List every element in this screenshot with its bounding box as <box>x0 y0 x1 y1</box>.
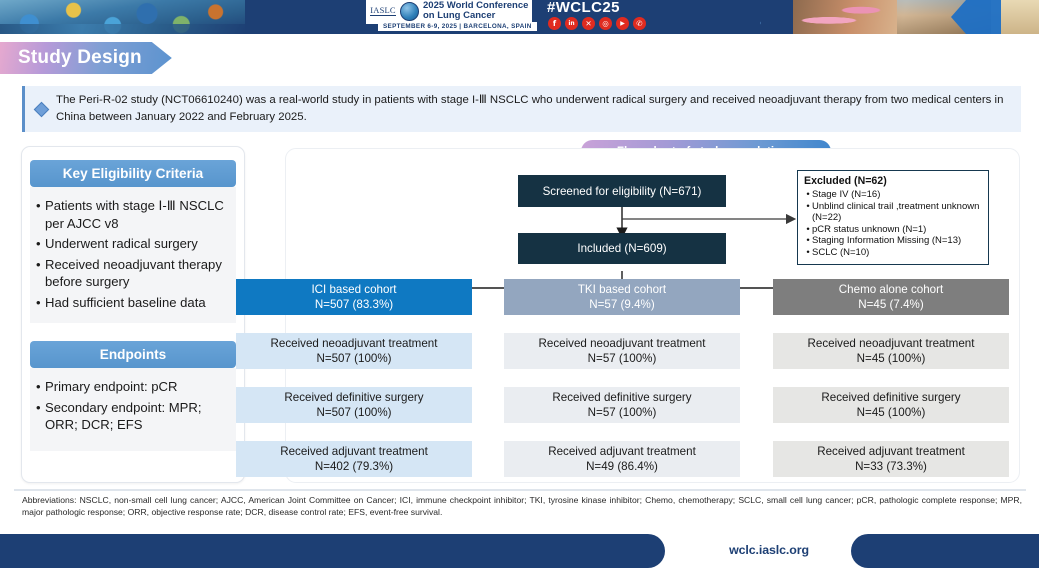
cohort-tki-name: TKI based cohort <box>578 282 666 297</box>
eligibility-list: • Patients with stage Ⅰ-Ⅲ NSCLC per AJCC… <box>30 187 236 323</box>
node-chemo-adjuvant: Received adjuvant treatment N=33 (73.3%) <box>773 441 1009 477</box>
conference-title: 2025 World Conference on Lung Cancer <box>423 1 528 21</box>
facebook-icon[interactable]: f <box>548 17 561 30</box>
node-tki-neoadjuvant: Received neoadjuvant treatment N=57 (100… <box>504 333 740 369</box>
excluded-item-1: Unblind clinical trail ,treatment unknow… <box>812 201 983 224</box>
bullet-dot-icon: • <box>36 294 45 312</box>
node-ici-surgery-count: N=507 (100%) <box>316 405 391 420</box>
bullet-dot-icon: • <box>804 201 812 224</box>
node-excluded-box: Excluded (N=62) • Stage IV (N=16) • Unbl… <box>797 170 989 265</box>
globe-icon <box>400 2 419 21</box>
endpoints-list: • Primary endpoint: pCR • Secondary endp… <box>30 368 236 451</box>
list-item: • Underwent radical surgery <box>36 235 230 253</box>
eligibility-item-0: Patients with stage Ⅰ-Ⅲ NSCLC per AJCC v… <box>45 197 230 232</box>
cohort-tki-count: N=57 (9.4%) <box>589 297 654 312</box>
list-item: • pCR status unknown (N=1) <box>804 224 983 236</box>
node-tki-neoadjuvant-count: N=57 (100%) <box>588 351 657 366</box>
wechat-icon[interactable]: ✆ <box>633 17 646 30</box>
bullet-dot-icon: • <box>36 378 45 396</box>
eligibility-heading: Key Eligibility Criteria <box>30 160 236 187</box>
study-summary-callout: The Peri-R-02 study (NCT06610240) was a … <box>22 86 1021 132</box>
diamond-bullet-icon <box>34 101 50 117</box>
node-tki-adjuvant-label: Received adjuvant treatment <box>548 444 696 459</box>
bullet-dot-icon: • <box>804 189 812 201</box>
x-twitter-icon[interactable]: ✕ <box>582 17 595 30</box>
list-item: • Patients with stage Ⅰ-Ⅲ NSCLC per AJCC… <box>36 197 230 232</box>
section-tag-label: Study Design <box>18 47 142 69</box>
study-summary-text: The Peri-R-02 study (NCT06610240) was a … <box>56 92 1021 127</box>
node-ici-neoadjuvant-label: Received neoadjuvant treatment <box>271 336 438 351</box>
bullet-dot-icon: • <box>36 235 45 253</box>
node-cohort-ici-header: ICI based cohort N=507 (83.3%) <box>236 279 472 315</box>
barcelona-mosaic-photo <box>0 0 245 34</box>
node-tki-surgery-label: Received definitive surgery <box>552 390 691 405</box>
node-chemo-neoadjuvant-count: N=45 (100%) <box>857 351 926 366</box>
node-ici-adjuvant: Received adjuvant treatment N=402 (79.3%… <box>236 441 472 477</box>
list-item: • Stage IV (N=16) <box>804 189 983 201</box>
excluded-item-2: pCR status unknown (N=1) <box>812 224 983 236</box>
footnote-divider <box>14 489 1026 491</box>
youtube-icon[interactable]: ▶ <box>616 17 629 30</box>
cohort-ici-name: ICI based cohort <box>311 282 396 297</box>
logo-divider-rule <box>370 15 396 16</box>
node-cohort-tki-header: TKI based cohort N=57 (9.4%) <box>504 279 740 315</box>
node-ici-surgery: Received definitive surgery N=507 (100%) <box>236 387 472 423</box>
list-item: • Received neoadjuvant therapy before su… <box>36 256 230 291</box>
instagram-icon[interactable]: ◎ <box>599 17 612 30</box>
eligibility-item-1: Underwent radical surgery <box>45 235 230 253</box>
node-tki-adjuvant-count: N=49 (86.4%) <box>586 459 658 474</box>
node-chemo-neoadjuvant: Received neoadjuvant treatment N=45 (100… <box>773 333 1009 369</box>
conference-title-line2: on Lung Cancer <box>423 11 528 21</box>
endpoints-item-1: Secondary endpoint: MPR; ORR; DCR; EFS <box>45 399 230 434</box>
endpoints-heading: Endpoints <box>30 341 236 368</box>
section-tag-study-design: Study Design <box>0 42 172 74</box>
section-tag-wrapper: Study Design <box>0 42 172 74</box>
bullet-dot-icon: • <box>804 235 812 247</box>
node-ici-surgery-label: Received definitive surgery <box>284 390 423 405</box>
endpoints-heading-label: Endpoints <box>100 347 166 362</box>
bullet-dot-icon: • <box>36 197 45 232</box>
node-ici-neoadjuvant-count: N=507 (100%) <box>316 351 391 366</box>
list-item: • SCLC (N=10) <box>804 247 983 259</box>
node-chemo-adjuvant-label: Received adjuvant treatment <box>817 444 965 459</box>
conference-header-banner: IASLC 2025 World Conference on Lung Canc… <box>0 0 1039 34</box>
list-item: • Secondary endpoint: MPR; ORR; DCR; EFS <box>36 399 230 434</box>
node-tki-neoadjuvant-label: Received neoadjuvant treatment <box>539 336 706 351</box>
linkedin-icon[interactable]: in <box>565 17 578 30</box>
eligibility-item-2: Received neoadjuvant therapy before surg… <box>45 256 230 291</box>
footer-left-bar <box>0 534 665 568</box>
conference-hashtag: #WCLC25 <box>547 0 620 16</box>
cohort-chemo-name: Chemo alone cohort <box>839 282 943 297</box>
excluded-title: Excluded (N=62) <box>804 175 983 188</box>
node-chemo-surgery-count: N=45 (100%) <box>857 405 926 420</box>
node-included: Included (N=609) <box>518 233 726 264</box>
node-ici-neoadjuvant: Received neoadjuvant treatment N=507 (10… <box>236 333 472 369</box>
footer-right-bar <box>851 534 1039 568</box>
eligibility-heading-label: Key Eligibility Criteria <box>63 166 204 181</box>
node-cohort-chemo-header: Chemo alone cohort N=45 (7.4%) <box>773 279 1009 315</box>
node-tki-surgery-count: N=57 (100%) <box>588 405 657 420</box>
cohort-ici-count: N=507 (83.3%) <box>315 297 393 312</box>
abbreviations-footnote: Abbreviations: NSCLC, non-small cell lun… <box>22 494 1022 519</box>
bullet-dot-icon: • <box>804 224 812 236</box>
iaslc-logo-text: IASLC <box>370 5 396 15</box>
bullet-dot-icon: • <box>36 256 45 291</box>
node-chemo-surgery-label: Received definitive surgery <box>821 390 960 405</box>
list-item: • Had sufficient baseline data <box>36 294 230 312</box>
node-screened-for-eligibility: Screened for eligibility (N=671) <box>518 175 726 207</box>
bullet-dot-icon: • <box>804 247 812 259</box>
page-footer: wclc.iaslc.org <box>0 531 1039 571</box>
list-item: • Staging Information Missing (N=13) <box>804 235 983 247</box>
conference-date-location: SEPTEMBER 6-9, 2025 | BARCELONA, SPAIN <box>378 22 537 31</box>
node-tki-surgery: Received definitive surgery N=57 (100%) <box>504 387 740 423</box>
list-item: • Unblind clinical trail ,treatment unkn… <box>804 201 983 224</box>
node-ici-adjuvant-label: Received adjuvant treatment <box>280 444 428 459</box>
cohort-chemo-count: N=45 (7.4%) <box>858 297 923 312</box>
footer-website-url: wclc.iaslc.org <box>694 543 844 557</box>
eligibility-item-3: Had sufficient baseline data <box>45 294 230 312</box>
social-media-icons: f in ✕ ◎ ▶ ✆ <box>548 17 646 30</box>
iaslc-wordmark: IASLC <box>370 6 396 17</box>
node-chemo-adjuvant-count: N=33 (73.3%) <box>855 459 927 474</box>
study-design-left-card: Key Eligibility Criteria • Patients with… <box>21 146 245 483</box>
node-chemo-surgery: Received definitive surgery N=45 (100%) <box>773 387 1009 423</box>
excluded-item-4: SCLC (N=10) <box>812 247 983 259</box>
excluded-item-0: Stage IV (N=16) <box>812 189 983 201</box>
list-item: • Primary endpoint: pCR <box>36 378 230 396</box>
node-chemo-neoadjuvant-label: Received neoadjuvant treatment <box>808 336 975 351</box>
excluded-item-3: Staging Information Missing (N=13) <box>812 235 983 247</box>
node-tki-adjuvant: Received adjuvant treatment N=49 (86.4%) <box>504 441 740 477</box>
node-screened-label: Screened for eligibility (N=671) <box>543 184 702 199</box>
node-included-label: Included (N=609) <box>577 241 666 256</box>
iaslc-logo-block: IASLC 2025 World Conference on Lung Canc… <box>366 0 532 24</box>
node-ici-adjuvant-count: N=402 (79.3%) <box>315 459 393 474</box>
endpoints-item-0: Primary endpoint: pCR <box>45 378 230 396</box>
bullet-dot-icon: • <box>36 399 45 434</box>
